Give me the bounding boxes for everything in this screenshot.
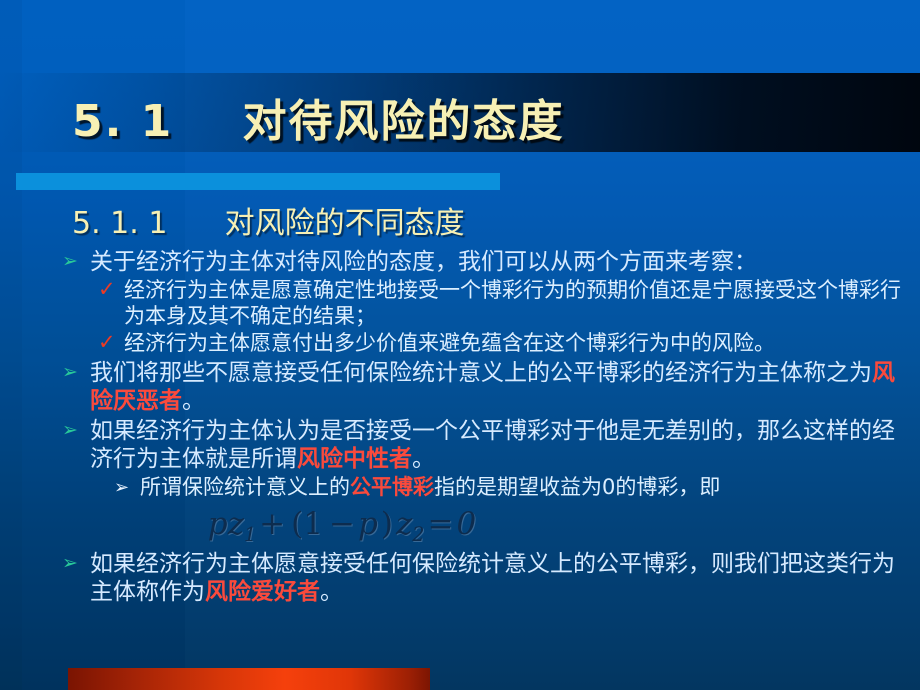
equation-pz1: pz [208,506,244,542]
equation-open-paren: (1 [288,506,326,542]
bullet-text: 如果经济行为主体愿意接受任何保险统计意义上的公平博彩，则我们把这类行为主体称作为… [90,550,912,606]
bullet-item: ✓ 经济行为主体愿意付出多少价值来避免蕴含在这个博彩行为中的风险。 [62,331,912,357]
bullet-text: 如果经济行为主体认为是否接受一个公平博彩对于他是无差别的，那么这样的经济行为主体… [90,417,912,473]
bullet-text-after: 。 [320,579,343,605]
equation-zero: 0 [456,506,476,542]
slide-subtitle: 5. 1. 1 对风险的不同态度 [72,198,465,242]
bullet-text-before: 如果经济行为主体认为是否接受一个公平博彩对于他是无差别的，那么这样的经济行为主体… [90,418,895,472]
bullet-item: ➢ 如果经济行为主体愿意接受任何保险统计意义上的公平博彩，则我们把这类行为主体称… [62,550,912,606]
slide-title: 5. 1 对待风险的态度 [72,85,565,149]
equation-close-paren: ) [378,506,396,542]
bullet-text: 我们将那些不愿意接受任何保险统计意义上的公平博彩的经济行为主体称之为风险厌恶者。 [90,359,912,415]
check-bullet-icon: ✓ [98,330,124,356]
equation-equals: = [425,506,457,542]
bullet-text: 所谓保险统计意义上的公平博彩指的是期望收益为0的博彩，即 [140,475,912,501]
highlight-term: 风险中性者 [297,446,412,472]
arrow-bullet-icon: ➢ [114,477,140,499]
arrow-bullet-icon: ➢ [62,419,90,442]
arrow-bullet-icon: ➢ [62,250,90,273]
bullet-text: 经济行为主体愿意付出多少价值来避免蕴含在这个博彩行为中的风险。 [124,331,912,357]
equation-minus: − [326,506,358,542]
bullet-text-after: 。 [182,388,205,414]
equation-subscript-2: 2 [412,523,424,546]
equation-p: p [358,506,378,542]
check-bullet-icon: ✓ [98,277,124,303]
highlight-term: 公平博彩 [350,475,434,499]
highlight-term: 风险爱好者 [205,579,320,605]
bullet-text-after: 。 [412,446,435,472]
bullet-text-before: 所谓保险统计意义上的 [140,475,350,499]
bullet-item: ➢ 我们将那些不愿意接受任何保险统计意义上的公平博彩的经济行为主体称之为风险厌恶… [62,359,912,415]
equation-z2: z [396,506,412,542]
equation-plus: + [256,506,288,542]
equation-subscript-1: 1 [244,523,256,546]
bottom-accent-bar [68,668,430,690]
bullet-text-before: 我们将那些不愿意接受任何保险统计意义上的公平博彩的经济行为主体称之为 [90,360,872,386]
bullet-item: ➢ 如果经济行为主体认为是否接受一个公平博彩对于他是无差别的，那么这样的经济行为… [62,417,912,473]
slide-body: ➢ 关于经济行为主体对待风险的态度，我们可以从两个方面来考察： ✓ 经济行为主体… [62,246,912,608]
math-equation: pz1+(1−p)z2=0 [62,506,912,546]
presentation-slide: 5. 1 对待风险的态度 5. 1. 1 对风险的不同态度 ➢ 关于经济行为主体… [0,0,920,690]
bullet-text-after: 指的是期望收益为0的博彩，即 [434,475,720,499]
bullet-text: 经济行为主体是愿意确定性地接受一个博彩行为的预期价值还是宁愿接受这个博彩行为本身… [124,278,912,329]
title-underline-rule [16,173,500,190]
arrow-bullet-icon: ➢ [62,552,90,575]
bullet-text: 关于经济行为主体对待风险的态度，我们可以从两个方面来考察： [90,248,912,276]
bullet-item: ➢ 所谓保险统计意义上的公平博彩指的是期望收益为0的博彩，即 [62,475,912,501]
bullet-item: ✓ 经济行为主体是愿意确定性地接受一个博彩行为的预期价值还是宁愿接受这个博彩行为… [62,278,912,329]
bullet-item: ➢ 关于经济行为主体对待风险的态度，我们可以从两个方面来考察： [62,248,912,276]
arrow-bullet-icon: ➢ [62,361,90,384]
